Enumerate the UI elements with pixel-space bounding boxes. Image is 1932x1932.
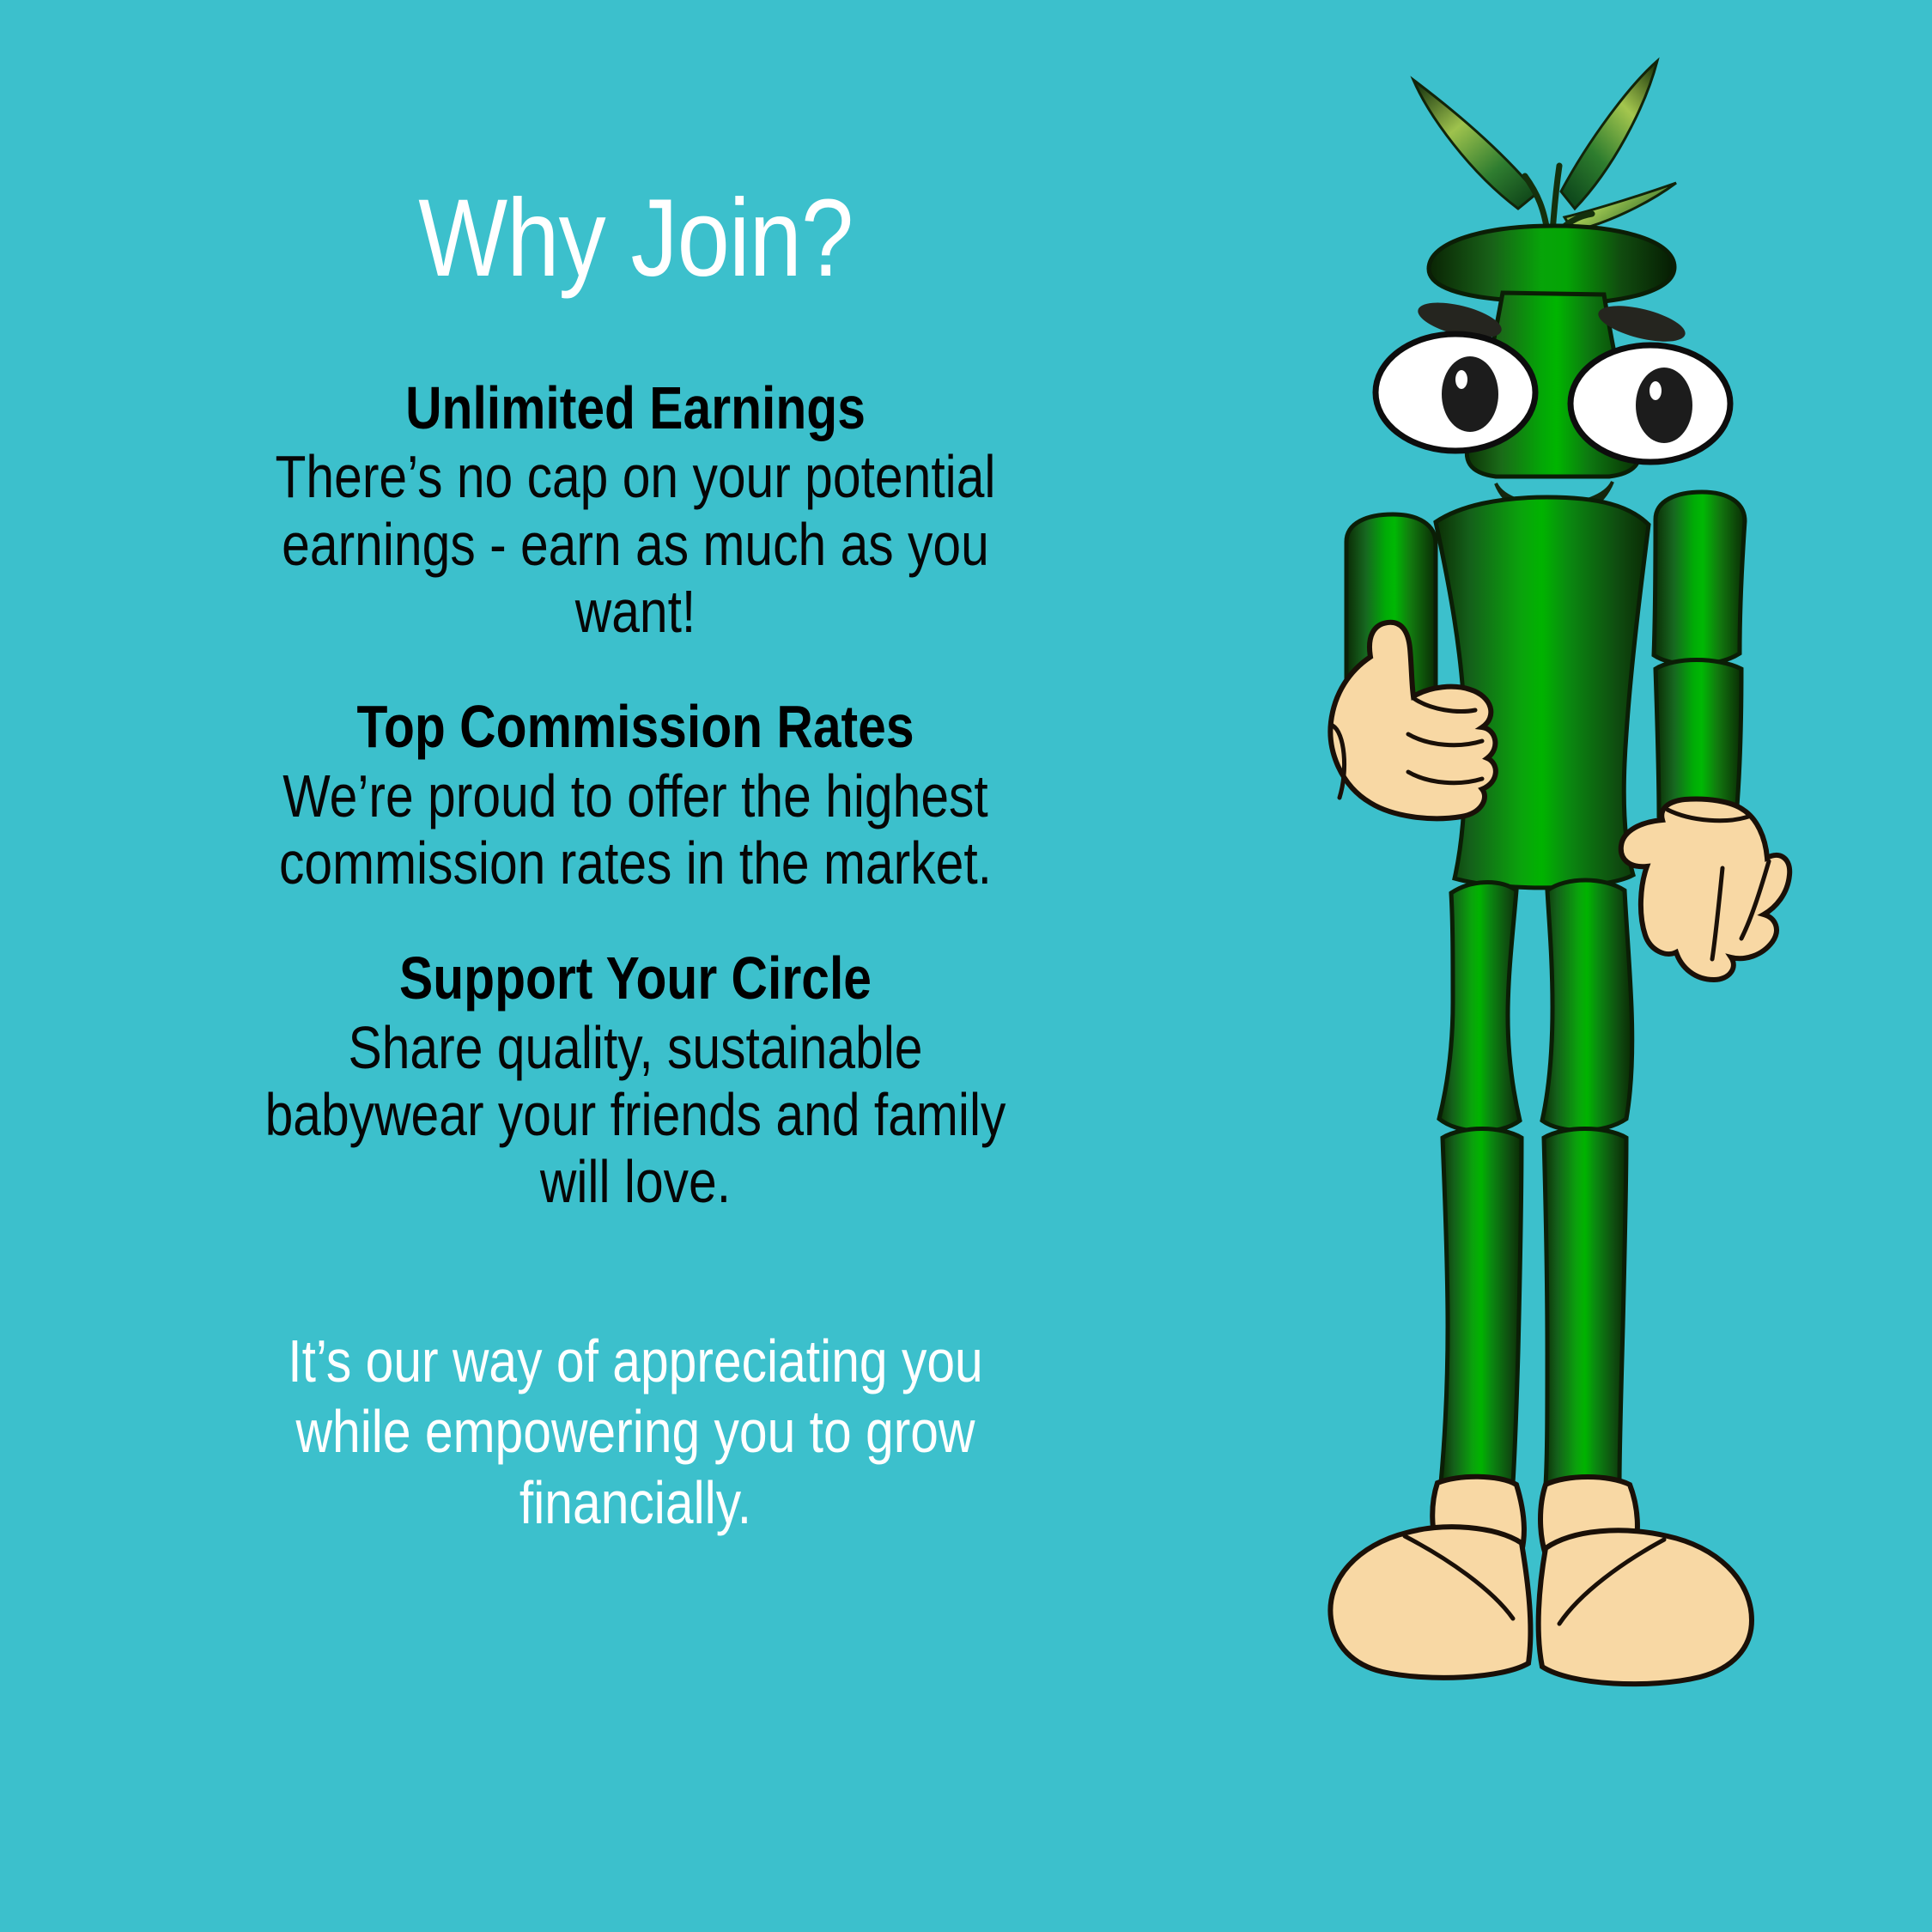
benefit-heading: Top Commission Rates — [246, 695, 1024, 758]
bamboo-mascot — [1245, 47, 1932, 1932]
mascot-leg-right-upper — [1542, 880, 1632, 1131]
eye-right — [1571, 345, 1730, 462]
leaf-left-icon — [1413, 80, 1537, 209]
benefit-item-unlimited-earnings: Unlimited Earnings There’s no cap on you… — [172, 376, 1099, 645]
shoe-left-icon — [1330, 1477, 1530, 1678]
benefit-body: We’re proud to offer the highest commiss… — [246, 762, 1024, 897]
bamboo-mascot-illustration — [1245, 47, 1932, 1932]
open-hand-icon — [1621, 799, 1789, 981]
eye-left — [1376, 334, 1535, 451]
mascot-leg-right-lower — [1544, 1129, 1626, 1493]
leaf-stem-left — [1525, 176, 1547, 231]
benefit-item-support-your-circle: Support Your Circle Share quality, susta… — [172, 946, 1099, 1215]
eye-highlight-right-icon — [1649, 381, 1662, 400]
pupil-left-icon — [1442, 356, 1498, 432]
page-title: Why Join? — [418, 184, 853, 294]
leaf-right-icon — [1561, 61, 1657, 209]
benefit-heading: Support Your Circle — [246, 946, 1024, 1010]
benefit-item-top-commission-rates: Top Commission Rates We’re proud to offe… — [172, 695, 1099, 896]
mascot-arm-right-upper — [1654, 492, 1745, 665]
bamboo-leaves-icon — [1413, 61, 1676, 233]
mascot-head — [1376, 226, 1730, 519]
pupil-right-icon — [1636, 368, 1692, 443]
benefit-body: There’s no cap on your potential earning… — [246, 443, 1024, 645]
eye-highlight-left-icon — [1455, 370, 1467, 389]
benefit-body: Share quality, sustainable babywear your… — [246, 1014, 1024, 1216]
benefit-heading: Unlimited Earnings — [246, 376, 1024, 440]
poster-canvas: Why Join? Unlimited Earnings There’s no … — [0, 0, 1932, 1932]
closing-statement: It’s our way of appreciating you while e… — [232, 1326, 1040, 1539]
leaf-stem-mid — [1552, 166, 1559, 233]
content-column: Why Join? Unlimited Earnings There’s no … — [34, 0, 1236, 1932]
mascot-leg-left-lower — [1441, 1129, 1522, 1492]
shoe-right-icon — [1539, 1477, 1752, 1684]
mascot-leg-left-upper — [1439, 883, 1520, 1132]
